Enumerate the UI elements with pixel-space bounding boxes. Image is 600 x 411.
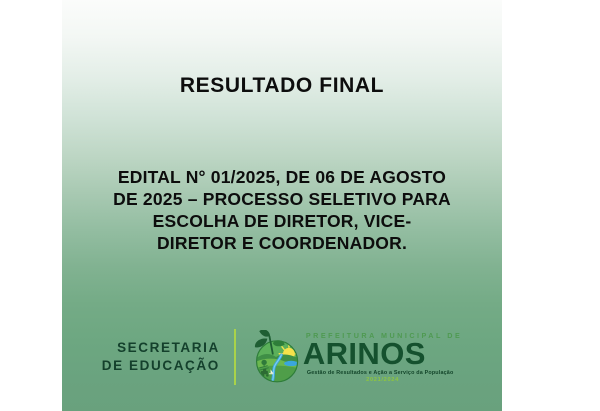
body-line: DE 2025 – PROCESSO SELETIVO PARA bbox=[82, 188, 482, 210]
brand-years: 2021/2024 bbox=[303, 377, 462, 383]
announcement-poster: RESULTADO FINAL EDITAL N° 01/2025, DE 06… bbox=[62, 0, 502, 411]
secretaria-line-1: SECRETARIA bbox=[102, 339, 220, 357]
poster-footer: SECRETARIA DE EDUCAÇÃO bbox=[62, 321, 502, 393]
arinos-wordmark: PREFEITURA MUNICIPAL DE ARINOS Gestão de… bbox=[303, 331, 462, 383]
screenshot-canvas: RESULTADO FINAL EDITAL N° 01/2025, DE 06… bbox=[0, 0, 600, 411]
footer-divider bbox=[234, 329, 236, 385]
arinos-municipal-crest-icon bbox=[249, 330, 303, 384]
announcement-body: EDITAL N° 01/2025, DE 06 DE AGOSTO DE 20… bbox=[82, 166, 482, 254]
body-line: DIRETOR E COORDENADOR. bbox=[82, 232, 482, 254]
prefeitura-arinos-logo: PREFEITURA MUNICIPAL DE ARINOS Gestão de… bbox=[249, 330, 462, 384]
body-line: EDITAL N° 01/2025, DE 06 DE AGOSTO bbox=[82, 166, 482, 188]
arinos-name: ARINOS bbox=[303, 341, 462, 368]
secretaria-de-educacao-label: SECRETARIA DE EDUCAÇÃO bbox=[102, 339, 220, 375]
body-line: ESCOLHA DE DIRETOR, VICE- bbox=[82, 210, 482, 232]
secretaria-line-2: DE EDUCAÇÃO bbox=[102, 357, 220, 375]
brand-tagline: Gestão de Resultados e Ação a Serviço da… bbox=[307, 370, 462, 376]
page-title: RESULTADO FINAL bbox=[62, 74, 502, 98]
